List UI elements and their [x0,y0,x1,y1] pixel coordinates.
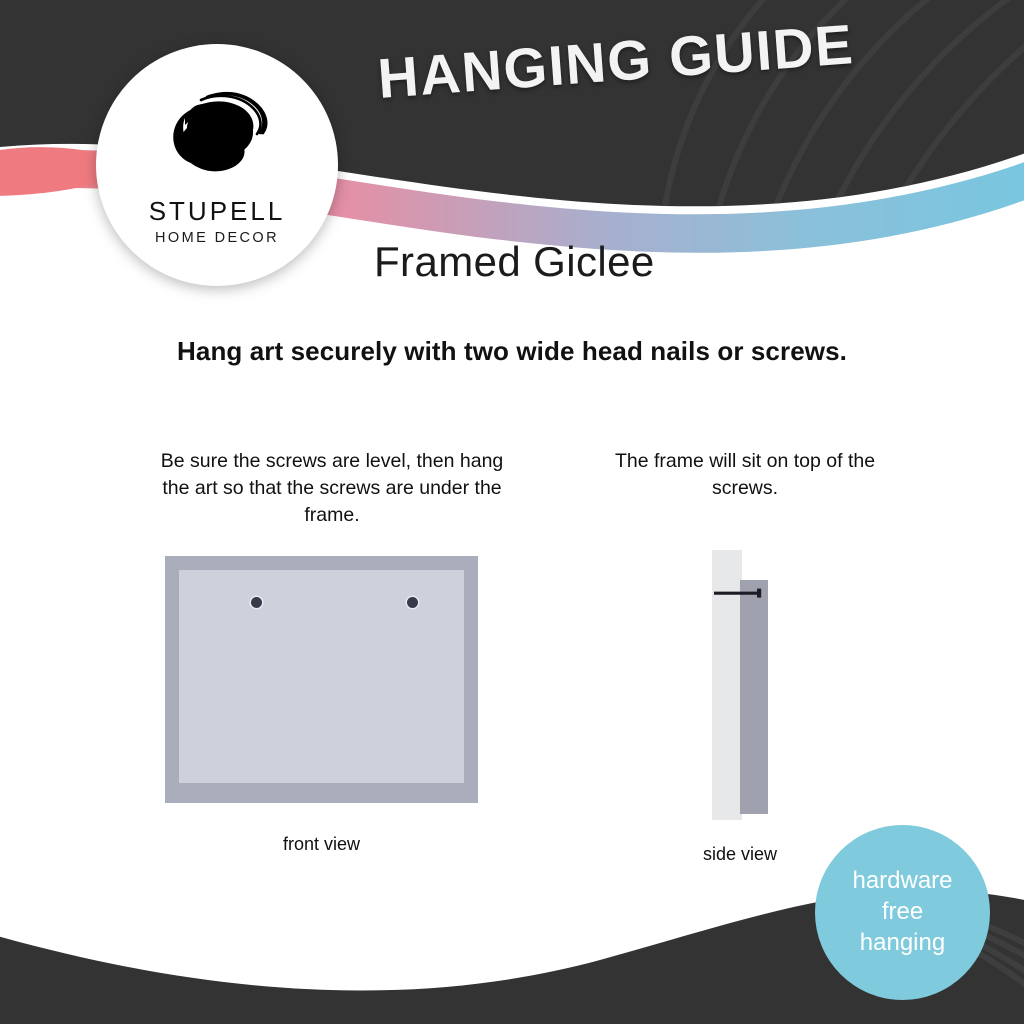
hanging-guide-poster: STUPELL HOME DECOR HANGING GUIDE Framed … [0,0,1024,1024]
screw-dot-icon-left [251,597,262,608]
logo-wordmark: STUPELL [149,196,286,227]
side-view-frame [740,580,768,814]
screw-dot-icon-right [407,597,418,608]
brand-logo-badge: STUPELL HOME DECOR [96,44,338,286]
product-type-heading: Framed Giclee [374,238,655,286]
front-view-caption: Be sure the screws are level, then hang … [160,448,504,529]
page-title: HANGING GUIDE [376,11,856,111]
side-view-diagram [690,540,790,830]
logo-subwordmark: HOME DECOR [155,230,279,246]
badge-line-2: free [882,897,923,928]
badge-line-1: hardware [852,866,952,897]
main-instruction-text: Hang art securely with two wide head nai… [0,336,1024,367]
front-view-frame-inner [179,570,464,783]
hardware-free-hanging-badge: hardware free hanging [815,825,990,1000]
stupell-swoosh-logo-icon [157,72,277,190]
front-view-label: front view [165,834,478,855]
side-view-caption: The frame will sit on top of the screws. [584,448,906,502]
nail-side-icon [714,588,772,598]
side-view-label: side view [660,844,820,865]
front-view-frame-diagram [165,556,478,803]
badge-line-3: hanging [860,928,945,959]
